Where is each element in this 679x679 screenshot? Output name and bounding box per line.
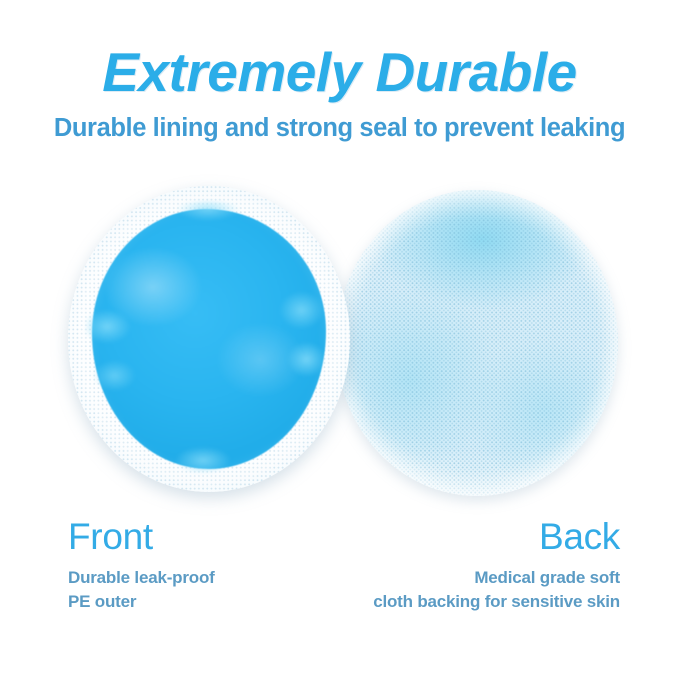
front-desc-line-1: Durable leak-proof <box>68 566 215 591</box>
front-desc-line-2: PE outer <box>68 590 215 615</box>
back-pad-image <box>336 190 618 496</box>
front-label-title: Front <box>68 518 215 557</box>
blue-gel-fill <box>92 209 326 469</box>
back-desc-line-2: cloth backing for sensitive skin <box>373 590 620 615</box>
back-label-description: Medical grade soft cloth backing for sen… <box>373 566 620 615</box>
front-pad-image <box>68 186 350 492</box>
subheadline: Durable lining and strong seal to preven… <box>0 114 679 142</box>
product-image-stage <box>0 186 679 506</box>
front-label-description: Durable leak-proof PE outer <box>68 566 215 615</box>
front-label-group: Front Durable leak-proof PE outer <box>68 518 215 615</box>
back-desc-line-1: Medical grade soft <box>373 566 620 591</box>
header-block: Extremely Durable Durable lining and str… <box>0 44 679 142</box>
product-infographic: Extremely Durable Durable lining and str… <box>0 0 679 679</box>
labels-block: Front Durable leak-proof PE outer Back M… <box>0 518 679 638</box>
back-label-group: Back Medical grade soft cloth backing fo… <box>373 518 620 615</box>
back-label-title: Back <box>373 518 620 557</box>
headline: Extremely Durable <box>0 44 679 102</box>
